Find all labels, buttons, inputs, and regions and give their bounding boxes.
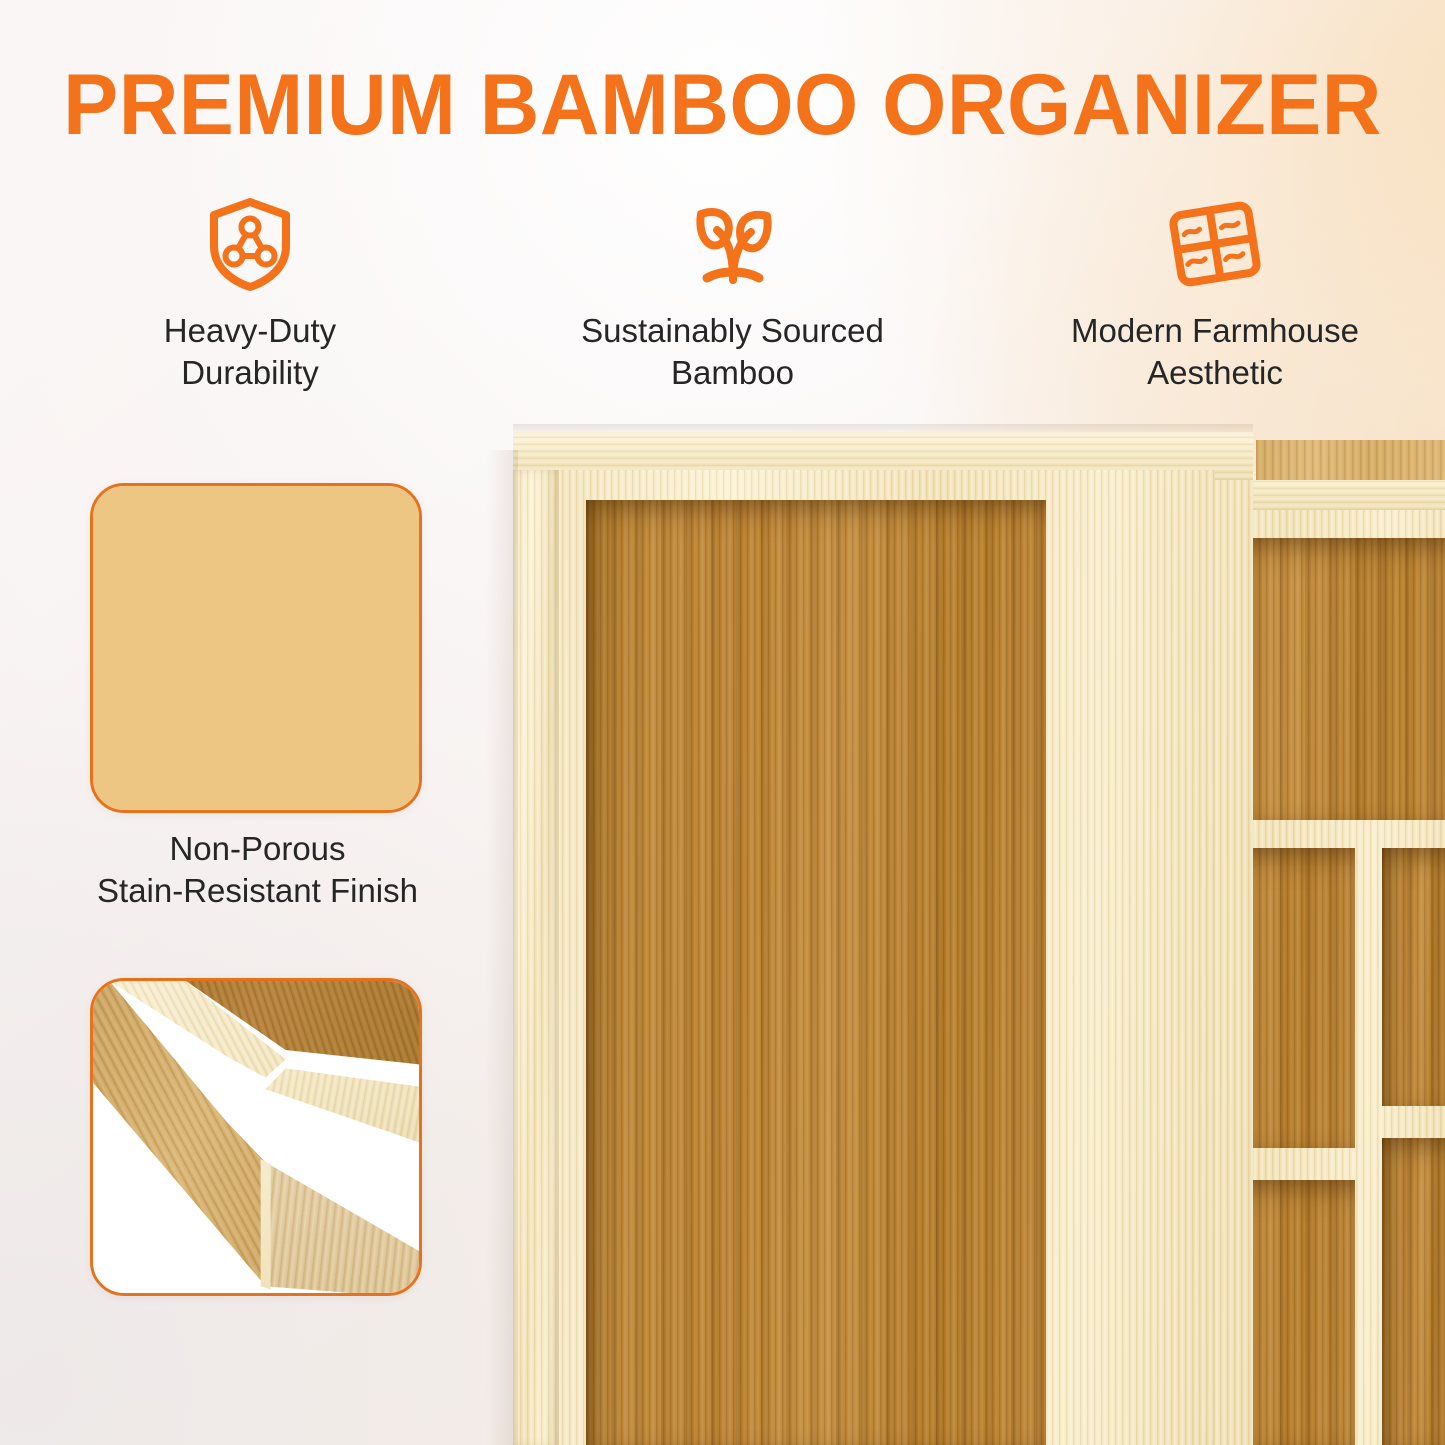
- front-tray-rim-shadow: [513, 424, 1253, 436]
- front-tray-interior: [586, 500, 1046, 1445]
- front-tray-shadow: [486, 450, 518, 1445]
- feature-sustainably-sourced-bamboo: Sustainably Sourced Bamboo: [573, 196, 893, 394]
- feature-modern-farmhouse-aesthetic: Modern Farmhouse Aesthetic: [1055, 196, 1375, 394]
- shield-molecule-icon: [204, 196, 296, 292]
- grid-tray-icon: [1163, 196, 1267, 292]
- bamboo-surface-swatch: [93, 486, 419, 810]
- front-tray-top-rim: [513, 432, 1253, 480]
- rear-tray-compartment-2: [1105, 848, 1355, 1148]
- feature-label: Modern Farmhouse Aesthetic: [1071, 310, 1359, 394]
- bamboo-corner-joint: [93, 981, 419, 1293]
- rear-tray-body: [1048, 472, 1445, 1445]
- feature-row: Heavy-Duty Durability Sustainably Source…: [90, 196, 1375, 394]
- front-tray-left-wall: [513, 470, 559, 1445]
- callout-card-joint: [90, 978, 422, 1296]
- callout-caption-finish: Non-Porous Stain-Resistant Finish: [60, 828, 455, 912]
- feature-heavy-duty-durability: Heavy-Duty Durability: [90, 196, 410, 394]
- sprout-leaf-icon: [681, 196, 785, 292]
- feature-label: Heavy-Duty Durability: [164, 310, 336, 394]
- rear-tray-compartment-3: [1382, 848, 1445, 1106]
- callout-card-finish: [90, 483, 422, 813]
- feature-label: Sustainably Sourced Bamboo: [581, 310, 884, 394]
- front-tray-body: [513, 432, 1253, 1445]
- rear-tray-compartment-4: [1382, 1138, 1445, 1445]
- rear-tray-back-wall: [1256, 440, 1445, 480]
- front-tray-inner-lip: [555, 470, 1215, 1445]
- product-marketing-image: PREMIUM BAMBOO ORGANIZER Heavy-Duty Dura…: [0, 0, 1445, 1445]
- rear-tray-compartment-1: [1105, 538, 1445, 820]
- rear-tray-compartment-5: [1105, 1180, 1355, 1445]
- rear-tray-top-rim: [1048, 472, 1445, 510]
- page-title: PREMIUM BAMBOO ORGANIZER: [29, 62, 1416, 148]
